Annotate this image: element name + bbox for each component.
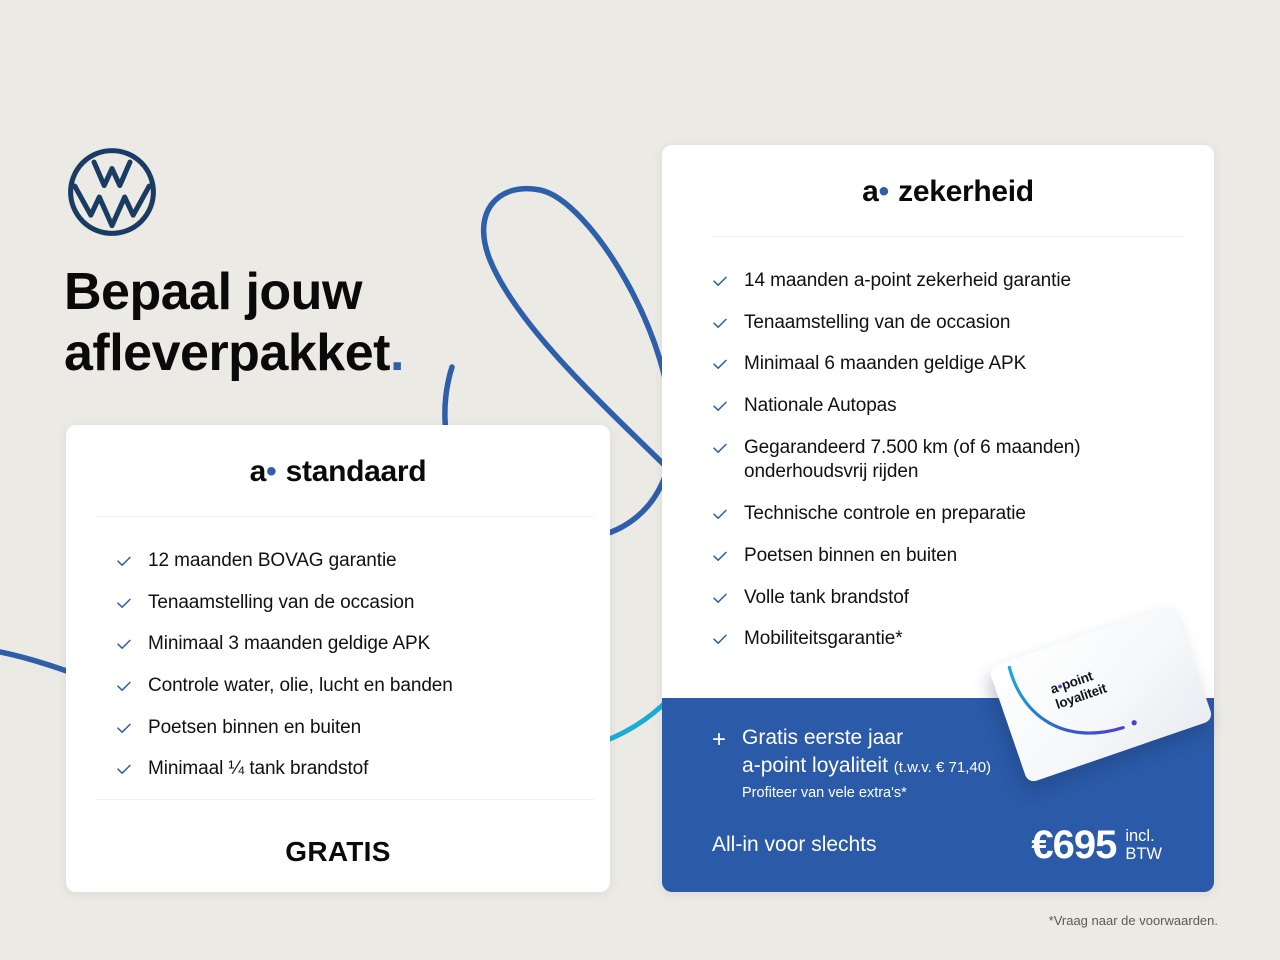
price-amount: €695 bbox=[1031, 825, 1116, 865]
feature-label: Volle tank brandstof bbox=[744, 586, 909, 611]
offer-line-1: Gratis eerste jaar bbox=[742, 724, 991, 752]
list-item: Poetsen binnen en buiten bbox=[116, 716, 580, 741]
check-icon bbox=[116, 637, 132, 653]
feature-label: Gegarandeerd 7.500 km (of 6 maanden) ond… bbox=[744, 436, 1184, 485]
offer-line-2-wrapper: a-point loyaliteit (t.w.v. € 71,40) bbox=[742, 752, 991, 780]
check-icon bbox=[712, 591, 728, 607]
standaard-top-divider bbox=[96, 516, 594, 517]
package-card-zekerheid[interactable]: a• zekerheid 14 maanden a-point zekerhei… bbox=[662, 145, 1214, 892]
headline-line-1: Bepaal jouw bbox=[64, 262, 544, 323]
feature-label: Mobiliteitsgarantie* bbox=[744, 627, 903, 652]
offer-line-2: a-point loyaliteit bbox=[742, 754, 888, 777]
headline-line-2-wrapper: afleverpakket. bbox=[64, 323, 544, 384]
price-vat-note: incl. BTW bbox=[1125, 827, 1162, 864]
zekerheid-title-prefix: a bbox=[862, 175, 878, 208]
list-item: Poetsen binnen en buiten bbox=[712, 544, 1184, 569]
feature-label: Controle water, olie, lucht en banden bbox=[148, 674, 453, 699]
standaard-card-title: a• standaard bbox=[116, 455, 580, 489]
list-item: Minimaal 3 maanden geldige APK bbox=[116, 632, 580, 657]
list-item: Gegarandeerd 7.500 km (of 6 maanden) ond… bbox=[712, 436, 1184, 485]
price-label: All-in voor slechts bbox=[712, 833, 1031, 857]
feature-label: Tenaamstelling van de occasion bbox=[744, 311, 1010, 336]
check-icon bbox=[116, 679, 132, 695]
feature-label: Tenaamstelling van de occasion bbox=[148, 591, 414, 616]
check-icon bbox=[712, 507, 728, 523]
price-vat-line-1: incl. bbox=[1125, 827, 1162, 845]
list-item: Technische controle en preparatie bbox=[712, 502, 1184, 527]
check-icon bbox=[712, 399, 728, 415]
check-icon bbox=[116, 762, 132, 778]
brand-dot-icon: • bbox=[266, 455, 278, 488]
feature-label: Nationale Autopas bbox=[744, 394, 897, 419]
list-item: Volle tank brandstof bbox=[712, 586, 1184, 611]
check-icon bbox=[712, 357, 728, 373]
zekerheid-top-divider bbox=[712, 236, 1184, 237]
feature-label: Technische controle en preparatie bbox=[744, 502, 1026, 527]
feature-label: Poetsen binnen en buiten bbox=[148, 716, 361, 741]
check-icon bbox=[712, 632, 728, 648]
volkswagen-logo bbox=[66, 146, 158, 238]
zekerheid-feature-list: 14 maanden a-point zekerheid garantie Te… bbox=[712, 269, 1184, 652]
check-icon bbox=[712, 441, 728, 457]
zekerheid-card-inner: a• zekerheid 14 maanden a-point zekerhei… bbox=[662, 145, 1214, 652]
feature-label: Poetsen binnen en buiten bbox=[744, 544, 957, 569]
standaard-title-text: standaard bbox=[286, 455, 427, 488]
page-headline: Bepaal jouw afleverpakket. bbox=[64, 262, 544, 385]
feature-label: Minimaal 3 maanden geldige APK bbox=[148, 632, 430, 657]
check-icon bbox=[116, 596, 132, 612]
offer-value: (t.w.v. € 71,40) bbox=[894, 759, 991, 776]
zekerheid-price-row: All-in voor slechts €695 incl. BTW bbox=[712, 825, 1214, 865]
headline-period: . bbox=[390, 324, 404, 382]
price-group: €695 incl. BTW bbox=[1031, 825, 1162, 865]
zekerheid-card-title: a• zekerheid bbox=[712, 175, 1184, 209]
check-icon bbox=[712, 549, 728, 565]
list-item: Tenaamstelling van de occasion bbox=[116, 591, 580, 616]
feature-label: 12 maanden BOVAG garantie bbox=[148, 549, 397, 574]
standaard-feature-list: 12 maanden BOVAG garantie Tenaamstelling… bbox=[116, 549, 580, 782]
headline-line-2: afleverpakket bbox=[64, 324, 390, 382]
check-icon bbox=[116, 721, 132, 737]
standaard-bottom-divider bbox=[96, 799, 594, 800]
price-vat-line-2: BTW bbox=[1125, 845, 1162, 863]
plus-icon: + bbox=[712, 728, 726, 752]
check-icon bbox=[712, 274, 728, 290]
standaard-price-label: GRATIS bbox=[116, 836, 580, 868]
list-item: Controle water, olie, lucht en banden bbox=[116, 674, 580, 699]
package-card-standaard[interactable]: a• standaard 12 maanden BOVAG garantie T… bbox=[66, 425, 610, 892]
standaard-card-inner: a• standaard 12 maanden BOVAG garantie T… bbox=[66, 425, 610, 868]
list-item: Minimaal ¼ tank brandstof bbox=[116, 757, 580, 782]
list-item: Nationale Autopas bbox=[712, 394, 1184, 419]
list-item: Tenaamstelling van de occasion bbox=[712, 311, 1184, 336]
offer-subtext: Profiteer van vele extra's* bbox=[742, 785, 991, 801]
footnote-text: *Vraag naar de voorwaarden. bbox=[1049, 913, 1218, 928]
list-item: 12 maanden BOVAG garantie bbox=[116, 549, 580, 574]
standaard-title-prefix: a bbox=[250, 455, 266, 488]
check-icon bbox=[712, 316, 728, 332]
feature-label: Minimaal 6 maanden geldige APK bbox=[744, 352, 1026, 377]
feature-label: Minimaal ¼ tank brandstof bbox=[148, 757, 368, 782]
brand-dot-icon: • bbox=[879, 175, 891, 208]
offer-text-block: Gratis eerste jaar a-point loyaliteit (t… bbox=[742, 724, 991, 801]
check-icon bbox=[116, 554, 132, 570]
list-item: 14 maanden a-point zekerheid garantie bbox=[712, 269, 1184, 294]
feature-label: 14 maanden a-point zekerheid garantie bbox=[744, 269, 1071, 294]
zekerheid-title-text: zekerheid bbox=[898, 175, 1034, 208]
list-item: Minimaal 6 maanden geldige APK bbox=[712, 352, 1184, 377]
